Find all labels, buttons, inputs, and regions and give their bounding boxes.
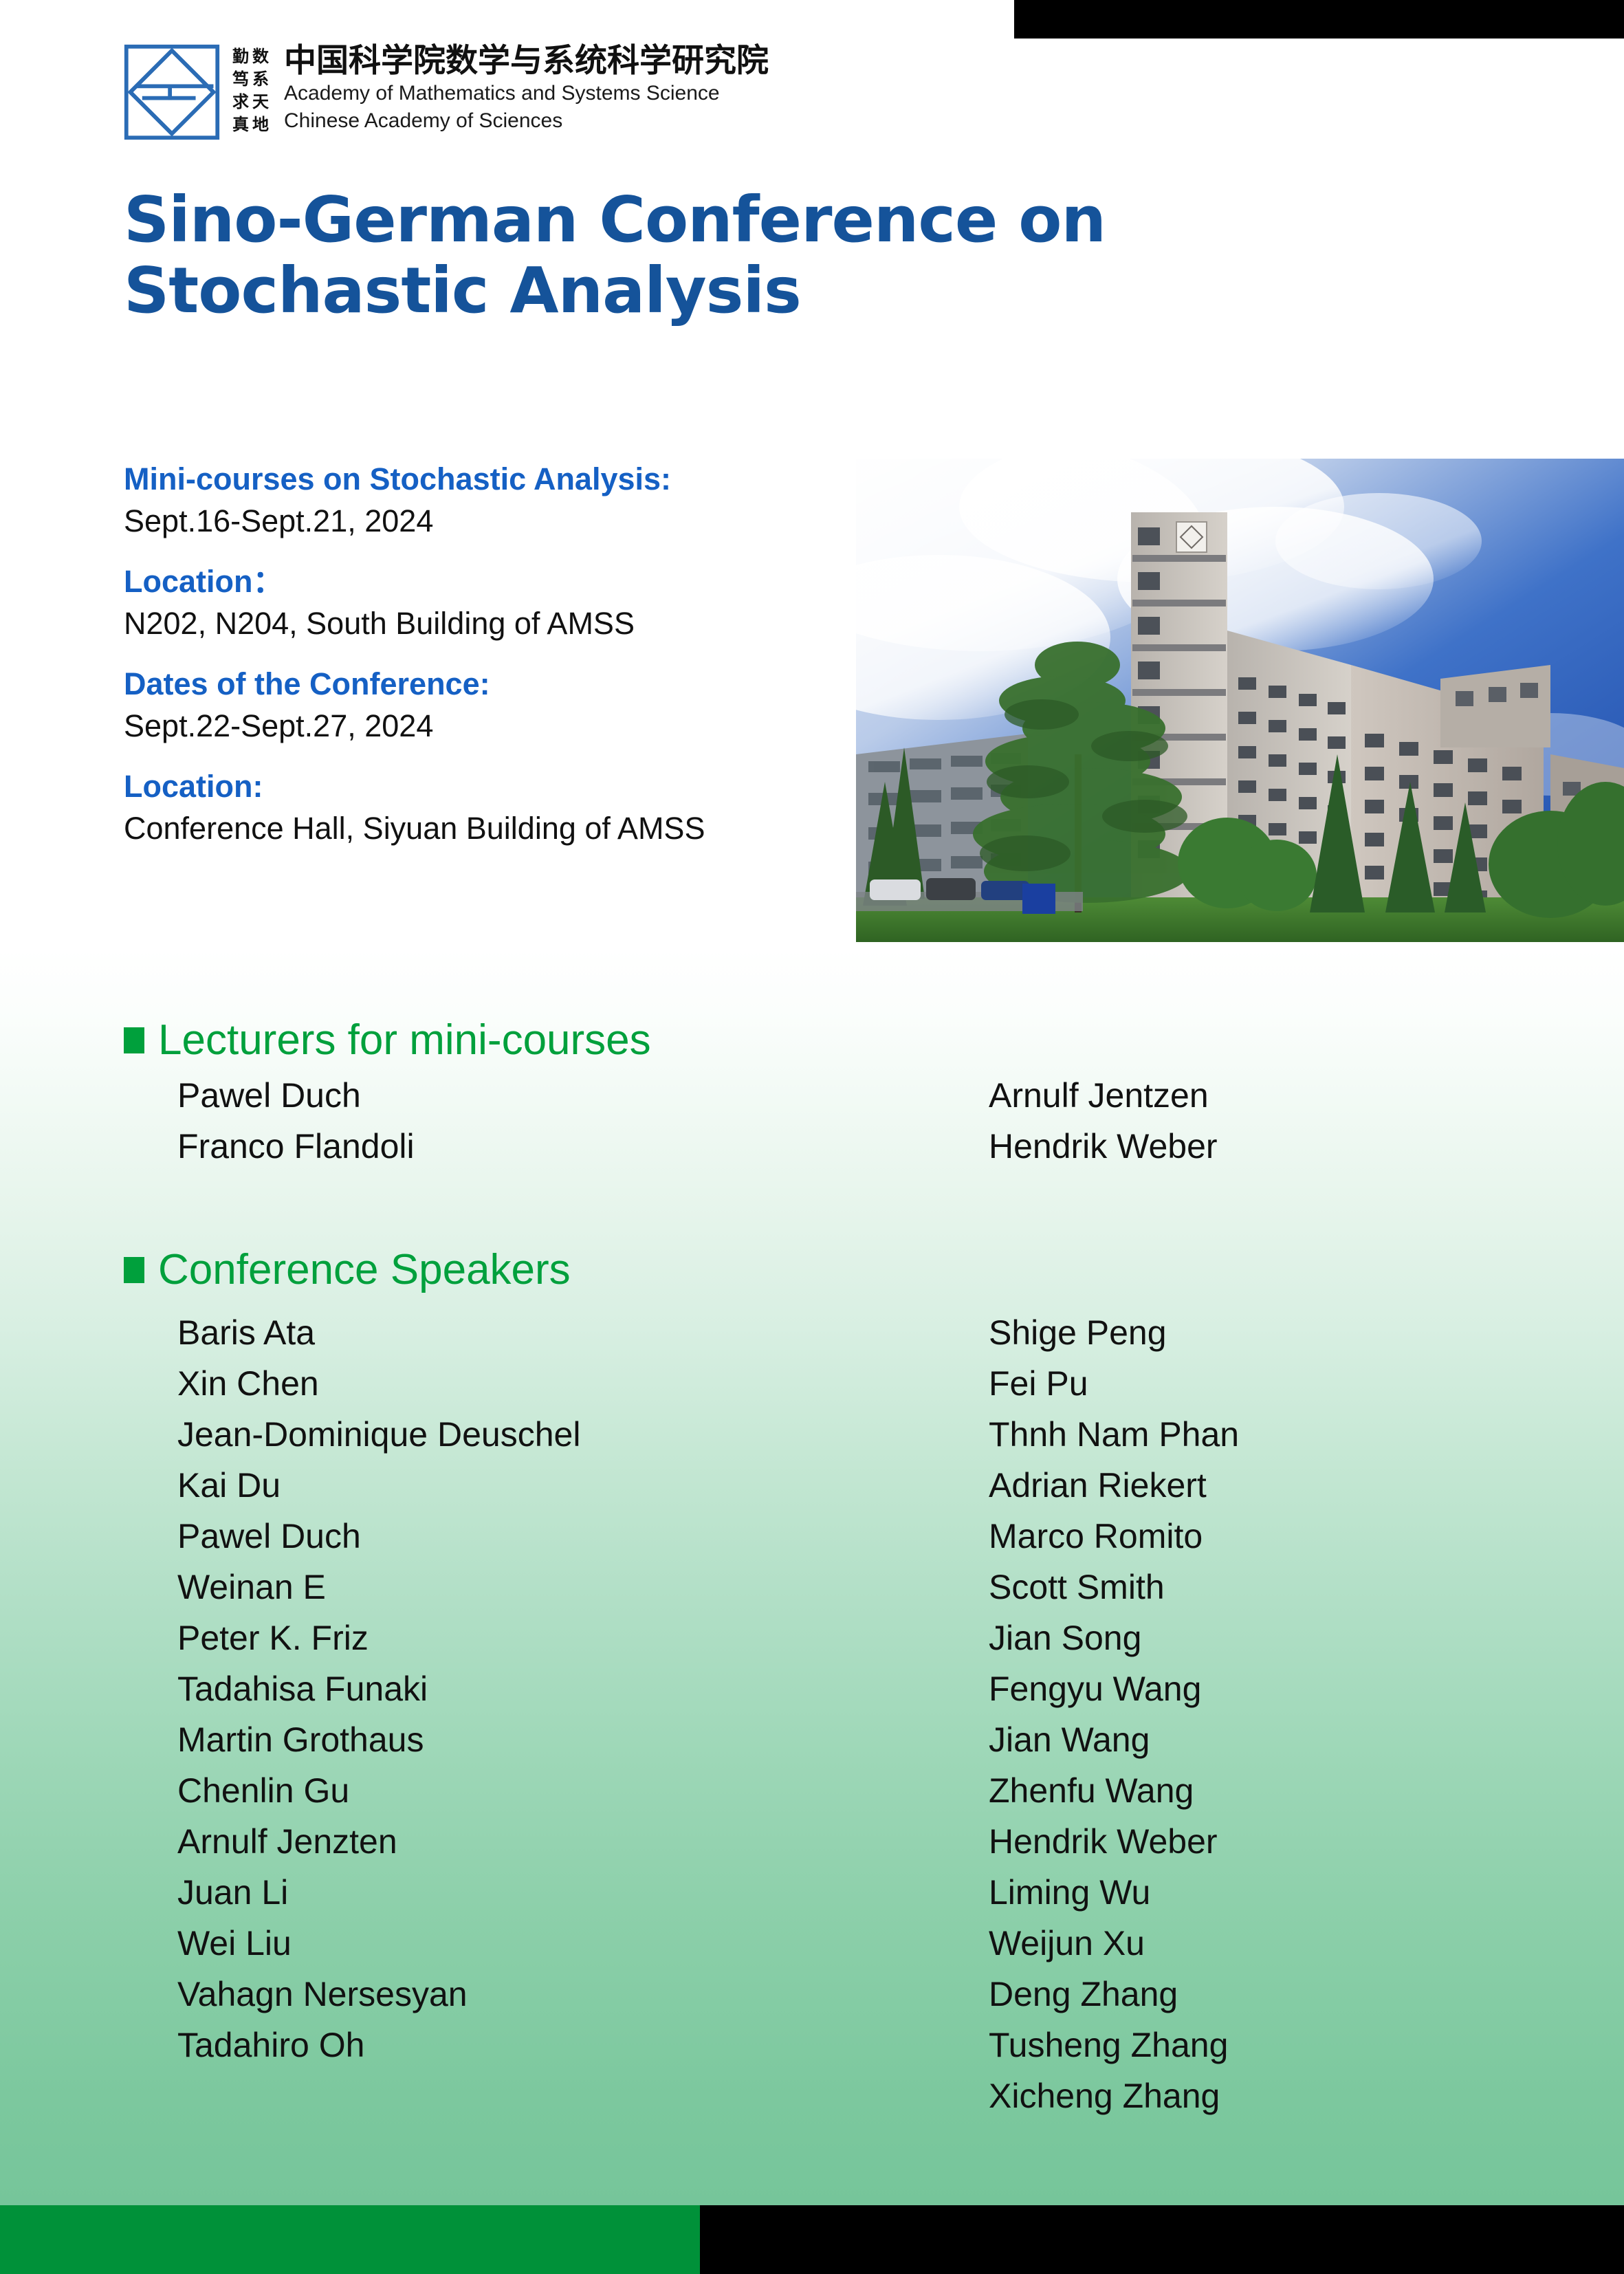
list-item: Tadahiro Oh xyxy=(177,2020,989,2070)
info-head-conference-location: Location: xyxy=(124,767,839,807)
info-body-conference-dates: Sept.22-Sept.27, 2024 xyxy=(124,706,839,747)
bottom-black-bar xyxy=(700,2205,1624,2274)
bottom-green-bar xyxy=(0,2205,700,2274)
top-black-bar xyxy=(1014,0,1624,39)
green-square-bullet-icon xyxy=(124,1027,144,1053)
list-item: Weijun Xu xyxy=(989,1918,1624,1969)
speakers-column-left: Baris Ata Xin Chen Jean-Dominique Deusch… xyxy=(177,1307,989,2121)
poster-title: Sino-German Conference on Stochastic Ana… xyxy=(124,184,1361,326)
list-item: Fengyu Wang xyxy=(989,1663,1624,1714)
section-title-lecturers: Lecturers for mini-courses xyxy=(158,1019,651,1062)
motto-char-1: 勤 xyxy=(232,45,249,68)
info-head-conference-dates: Dates of the Conference: xyxy=(124,664,839,705)
list-item: Deng Zhang xyxy=(989,1969,1624,2020)
motto-char-7: 真 xyxy=(232,113,249,136)
section-title-speakers: Conference Speakers xyxy=(158,1249,571,1291)
info-head-minicourses: Mini-courses on Stochastic Analysis: xyxy=(124,459,839,500)
list-item: Hendrik Weber xyxy=(989,1816,1624,1867)
lecturers-column-left: Pawel Duch Franco Flandoli xyxy=(177,1070,989,1172)
list-item: Juan Li xyxy=(177,1867,989,1918)
motto-char-2: 数 xyxy=(252,45,269,68)
list-item: Chenlin Gu xyxy=(177,1765,989,1816)
list-item: Martin Grothaus xyxy=(177,1714,989,1765)
list-item: Jian Song xyxy=(989,1612,1624,1663)
list-item: Franco Flandoli xyxy=(177,1121,989,1172)
poster-title-line1: Sino-German Conference on xyxy=(124,184,1361,255)
list-item: Pawel Duch xyxy=(177,1511,989,1562)
event-info-block: Mini-courses on Stochastic Analysis: Sep… xyxy=(124,459,839,849)
info-group-conference-location: Location: Conference Hall, Siyuan Buildi… xyxy=(124,767,839,849)
list-item: Wei Liu xyxy=(177,1918,989,1969)
poster-title-line2: Stochastic Analysis xyxy=(124,255,1361,326)
motto-char-5: 求 xyxy=(232,91,249,113)
motto-char-8: 地 xyxy=(252,113,269,136)
list-item: Weinan E xyxy=(177,1562,989,1612)
list-item: Adrian Riekert xyxy=(989,1460,1624,1511)
list-item: Baris Ata xyxy=(177,1307,989,1358)
list-item: Liming Wu xyxy=(989,1867,1624,1918)
green-square-bullet-icon xyxy=(124,1257,144,1283)
list-item: Tadahisa Funaki xyxy=(177,1663,989,1714)
speakers-column-right: Shige Peng Fei Pu Thnh Nam Phan Adrian R… xyxy=(989,1307,1624,2121)
section-heading-lecturers: Lecturers for mini-courses xyxy=(124,1019,651,1062)
info-head-minicourse-location: Location： xyxy=(124,562,839,602)
list-item: Peter K. Friz xyxy=(177,1612,989,1663)
list-item: Vahagn Nersesyan xyxy=(177,1969,989,2020)
institute-motto: 勤 数 笃 系 求 天 真 地 xyxy=(232,45,269,136)
list-item: Arnulf Jenzten xyxy=(177,1816,989,1867)
speakers-name-list: Baris Ata Xin Chen Jean-Dominique Deusch… xyxy=(177,1307,1624,2121)
conference-poster: 勤 数 笃 系 求 天 真 地 中国科学院数学与系统科学研究院 Academy … xyxy=(0,0,1624,2274)
list-item: Shige Peng xyxy=(989,1307,1624,1358)
info-group-conference-dates: Dates of the Conference: Sept.22-Sept.27… xyxy=(124,664,839,746)
info-body-minicourses: Sept.16-Sept.21, 2024 xyxy=(124,501,839,542)
list-item: Hendrik Weber xyxy=(989,1121,1624,1172)
info-body-minicourse-location: N202, N204, South Building of AMSS xyxy=(124,604,839,644)
info-group-minicourse-location: Location： N202, N204, South Building of … xyxy=(124,562,839,644)
list-item: Xin Chen xyxy=(177,1358,989,1409)
section-heading-speakers: Conference Speakers xyxy=(124,1249,571,1291)
institute-name-english-line1: Academy of Mathematics and Systems Scien… xyxy=(284,80,769,107)
list-item: Arnulf Jentzen xyxy=(989,1070,1624,1121)
list-item: Pawel Duch xyxy=(177,1070,989,1121)
list-item: Jean-Dominique Deuschel xyxy=(177,1409,989,1460)
list-item: Marco Romito xyxy=(989,1511,1624,1562)
motto-char-6: 天 xyxy=(252,91,269,113)
lecturers-name-list: Pawel Duch Franco Flandoli Arnulf Jentze… xyxy=(177,1070,1624,1172)
list-item: Xicheng Zhang xyxy=(989,2070,1624,2121)
list-item: Thnh Nam Phan xyxy=(989,1409,1624,1460)
motto-char-3: 笃 xyxy=(232,68,249,91)
campus-photo xyxy=(856,459,1624,942)
list-item: Scott Smith xyxy=(989,1562,1624,1612)
info-body-conference-location: Conference Hall, Siyuan Building of AMSS xyxy=(124,809,839,849)
amss-logo-icon xyxy=(121,43,223,142)
lecturers-column-right: Arnulf Jentzen Hendrik Weber xyxy=(989,1070,1624,1172)
info-group-minicourses: Mini-courses on Stochastic Analysis: Sep… xyxy=(124,459,839,541)
list-item: Jian Wang xyxy=(989,1714,1624,1765)
institute-name-block: 中国科学院数学与系统科学研究院 Academy of Mathematics a… xyxy=(284,43,769,135)
list-item: Fei Pu xyxy=(989,1358,1624,1409)
campus-photo-illustration xyxy=(856,459,1624,942)
institute-name-english-line2: Chinese Academy of Sciences xyxy=(284,107,769,135)
institute-header: 勤 数 笃 系 求 天 真 地 中国科学院数学与系统科学研究院 Academy … xyxy=(121,43,769,142)
list-item: Zhenfu Wang xyxy=(989,1765,1624,1816)
list-item: Tusheng Zhang xyxy=(989,2020,1624,2070)
motto-char-4: 系 xyxy=(252,68,269,91)
institute-name-chinese: 中国科学院数学与系统科学研究院 xyxy=(284,43,769,80)
list-item: Kai Du xyxy=(177,1460,989,1511)
